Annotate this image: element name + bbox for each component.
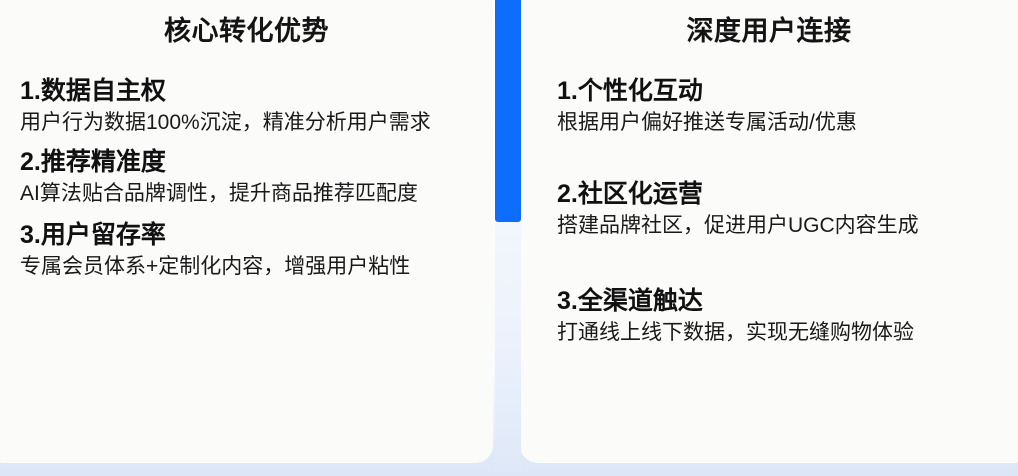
list-item-description: AI算法贴合品牌调性，提升商品推荐匹配度 xyxy=(20,179,473,208)
list-item-heading: 2.推荐精准度 xyxy=(20,145,473,179)
list-item-description: 搭建品牌社区，促进用户UGC内容生成 xyxy=(557,211,1008,240)
blue-divider-bar xyxy=(495,0,521,222)
list-item-description: 专属会员体系+定制化内容，增强用户粘性 xyxy=(20,252,473,281)
list-item: 2.社区化运营 搭建品牌社区，促进用户UGC内容生成 xyxy=(557,177,1008,240)
panel-deep-user-connection: 深度用户连接 1.个性化互动 根据用户偏好推送专属活动/优惠 2.社区化运营 搭… xyxy=(520,0,1018,476)
list-item: 2.推荐精准度 AI算法贴合品牌调性，提升商品推荐匹配度 xyxy=(20,145,473,208)
page-title-left: 核心转化优势 xyxy=(0,14,493,48)
list-item-heading: 3.全渠道触达 xyxy=(557,284,1008,318)
list-item-description: 用户行为数据100%沉淀，精准分析用户需求 xyxy=(20,108,473,137)
divider-glow xyxy=(495,222,521,472)
list-item: 1.数据自主权 用户行为数据100%沉淀，精准分析用户需求 xyxy=(20,74,473,137)
list-item-description: 根据用户偏好推送专属活动/优惠 xyxy=(557,108,1008,137)
slide-canvas: 核心转化优势 1.数据自主权 用户行为数据100%沉淀，精准分析用户需求 2.推… xyxy=(0,0,1018,476)
list-item-heading: 2.社区化运营 xyxy=(557,177,1008,211)
list-item: 3.全渠道触达 打通线上线下数据，实现无缝购物体验 xyxy=(557,284,1008,347)
list-item-heading: 1.个性化互动 xyxy=(557,74,1008,108)
list-item: 1.个性化互动 根据用户偏好推送专属活动/优惠 xyxy=(557,74,1008,137)
list-right: 1.个性化互动 根据用户偏好推送专属活动/优惠 2.社区化运营 搭建品牌社区，促… xyxy=(557,74,1008,347)
list-item: 3.用户留存率 专属会员体系+定制化内容，增强用户粘性 xyxy=(20,218,473,281)
panel-core-conversion-advantage: 核心转化优势 1.数据自主权 用户行为数据100%沉淀，精准分析用户需求 2.推… xyxy=(0,0,493,476)
list-item-heading: 1.数据自主权 xyxy=(20,74,473,108)
list-left: 1.数据自主权 用户行为数据100%沉淀，精准分析用户需求 2.推荐精准度 AI… xyxy=(20,74,473,281)
page-title-right: 深度用户连接 xyxy=(520,14,1018,48)
list-item-description: 打通线上线下数据，实现无缝购物体验 xyxy=(557,318,1008,347)
list-item-heading: 3.用户留存率 xyxy=(20,218,473,252)
